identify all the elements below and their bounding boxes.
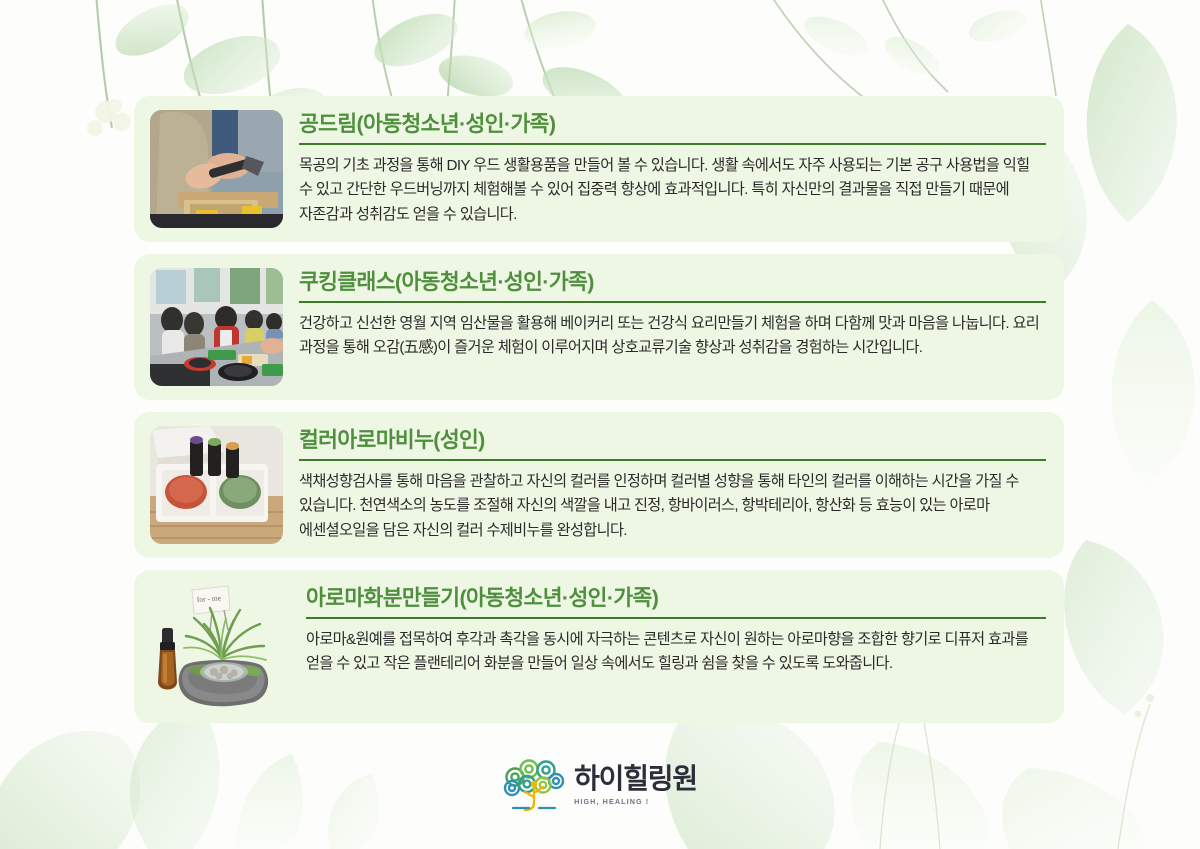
program-card-list: 공드림(아동청소년·성인·가족) 목공의 기초 과정을 통해 DIY 우드 생활… [134, 96, 1064, 735]
brand-tagline: HIGH, HEALING ! [574, 797, 697, 806]
program-card[interactable]: 쿠킹클래스(아동청소년·성인·가족) 건강하고 신선한 영월 지역 임산물을 활… [134, 254, 1064, 400]
program-description: 색채성향검사를 통해 마음을 관찰하고 자신의 컬러를 인정하며 컬러별 성향을… [299, 470, 1046, 544]
poster-page: 공드림(아동청소년·성인·가족) 목공의 기초 과정을 통해 DIY 우드 생활… [0, 0, 1200, 849]
program-text: 컬러아로마비누(성인) 색채성향검사를 통해 마음을 관찰하고 자신의 컬러를 … [299, 426, 1046, 544]
program-title: 쿠킹클래스(아동청소년·성인·가족) [299, 270, 1046, 295]
program-text: 아로마화분만들기(아동청소년·성인·가족) 아로마&원예를 접목하여 후각과 촉… [306, 584, 1046, 677]
footer-brand: 하이힐링원 HIGH, HEALING ! [0, 757, 1200, 813]
program-card[interactable]: for - me [134, 570, 1064, 723]
program-title: 컬러아로마비누(성인) [299, 428, 1046, 453]
program-card[interactable]: 컬러아로마비누(성인) 색채성향검사를 통해 마음을 관찰하고 자신의 컬러를 … [134, 412, 1064, 558]
program-title: 공드림(아동청소년·성인·가족) [299, 112, 1046, 137]
title-divider [299, 459, 1046, 461]
program-text: 쿠킹클래스(아동청소년·성인·가족) 건강하고 신선한 영월 지역 임산물을 활… [299, 268, 1046, 361]
program-photo-aroma-flowerpot: for - me [150, 584, 290, 709]
brand-name: 하이힐링원 [574, 765, 697, 793]
program-title: 아로마화분만들기(아동청소년·성인·가족) [306, 586, 1046, 611]
program-photo-gongdream [150, 110, 283, 228]
program-photo-cooking-class [150, 268, 283, 386]
title-divider [299, 301, 1046, 303]
program-description: 아로마&원예를 접목하여 후각과 촉각을 동시에 자극하는 콘텐츠로 자신이 원… [306, 628, 1046, 677]
program-card[interactable]: 공드림(아동청소년·성인·가족) 목공의 기초 과정을 통해 DIY 우드 생활… [134, 96, 1064, 242]
program-text: 공드림(아동청소년·성인·가족) 목공의 기초 과정을 통해 DIY 우드 생활… [299, 110, 1046, 228]
brand-text: 하이힐링원 HIGH, HEALING ! [574, 765, 697, 806]
title-divider [306, 617, 1046, 619]
program-photo-color-aroma-soap [150, 426, 283, 544]
program-description: 목공의 기초 과정을 통해 DIY 우드 생활용품을 만들어 볼 수 있습니다.… [299, 154, 1046, 228]
title-divider [299, 143, 1046, 145]
svg-text:for - me: for - me [197, 593, 222, 604]
tree-circles-logo-icon [503, 757, 565, 813]
program-description: 건강하고 신선한 영월 지역 임산물을 활용해 베이커리 또는 건강식 요리만들… [299, 312, 1046, 361]
